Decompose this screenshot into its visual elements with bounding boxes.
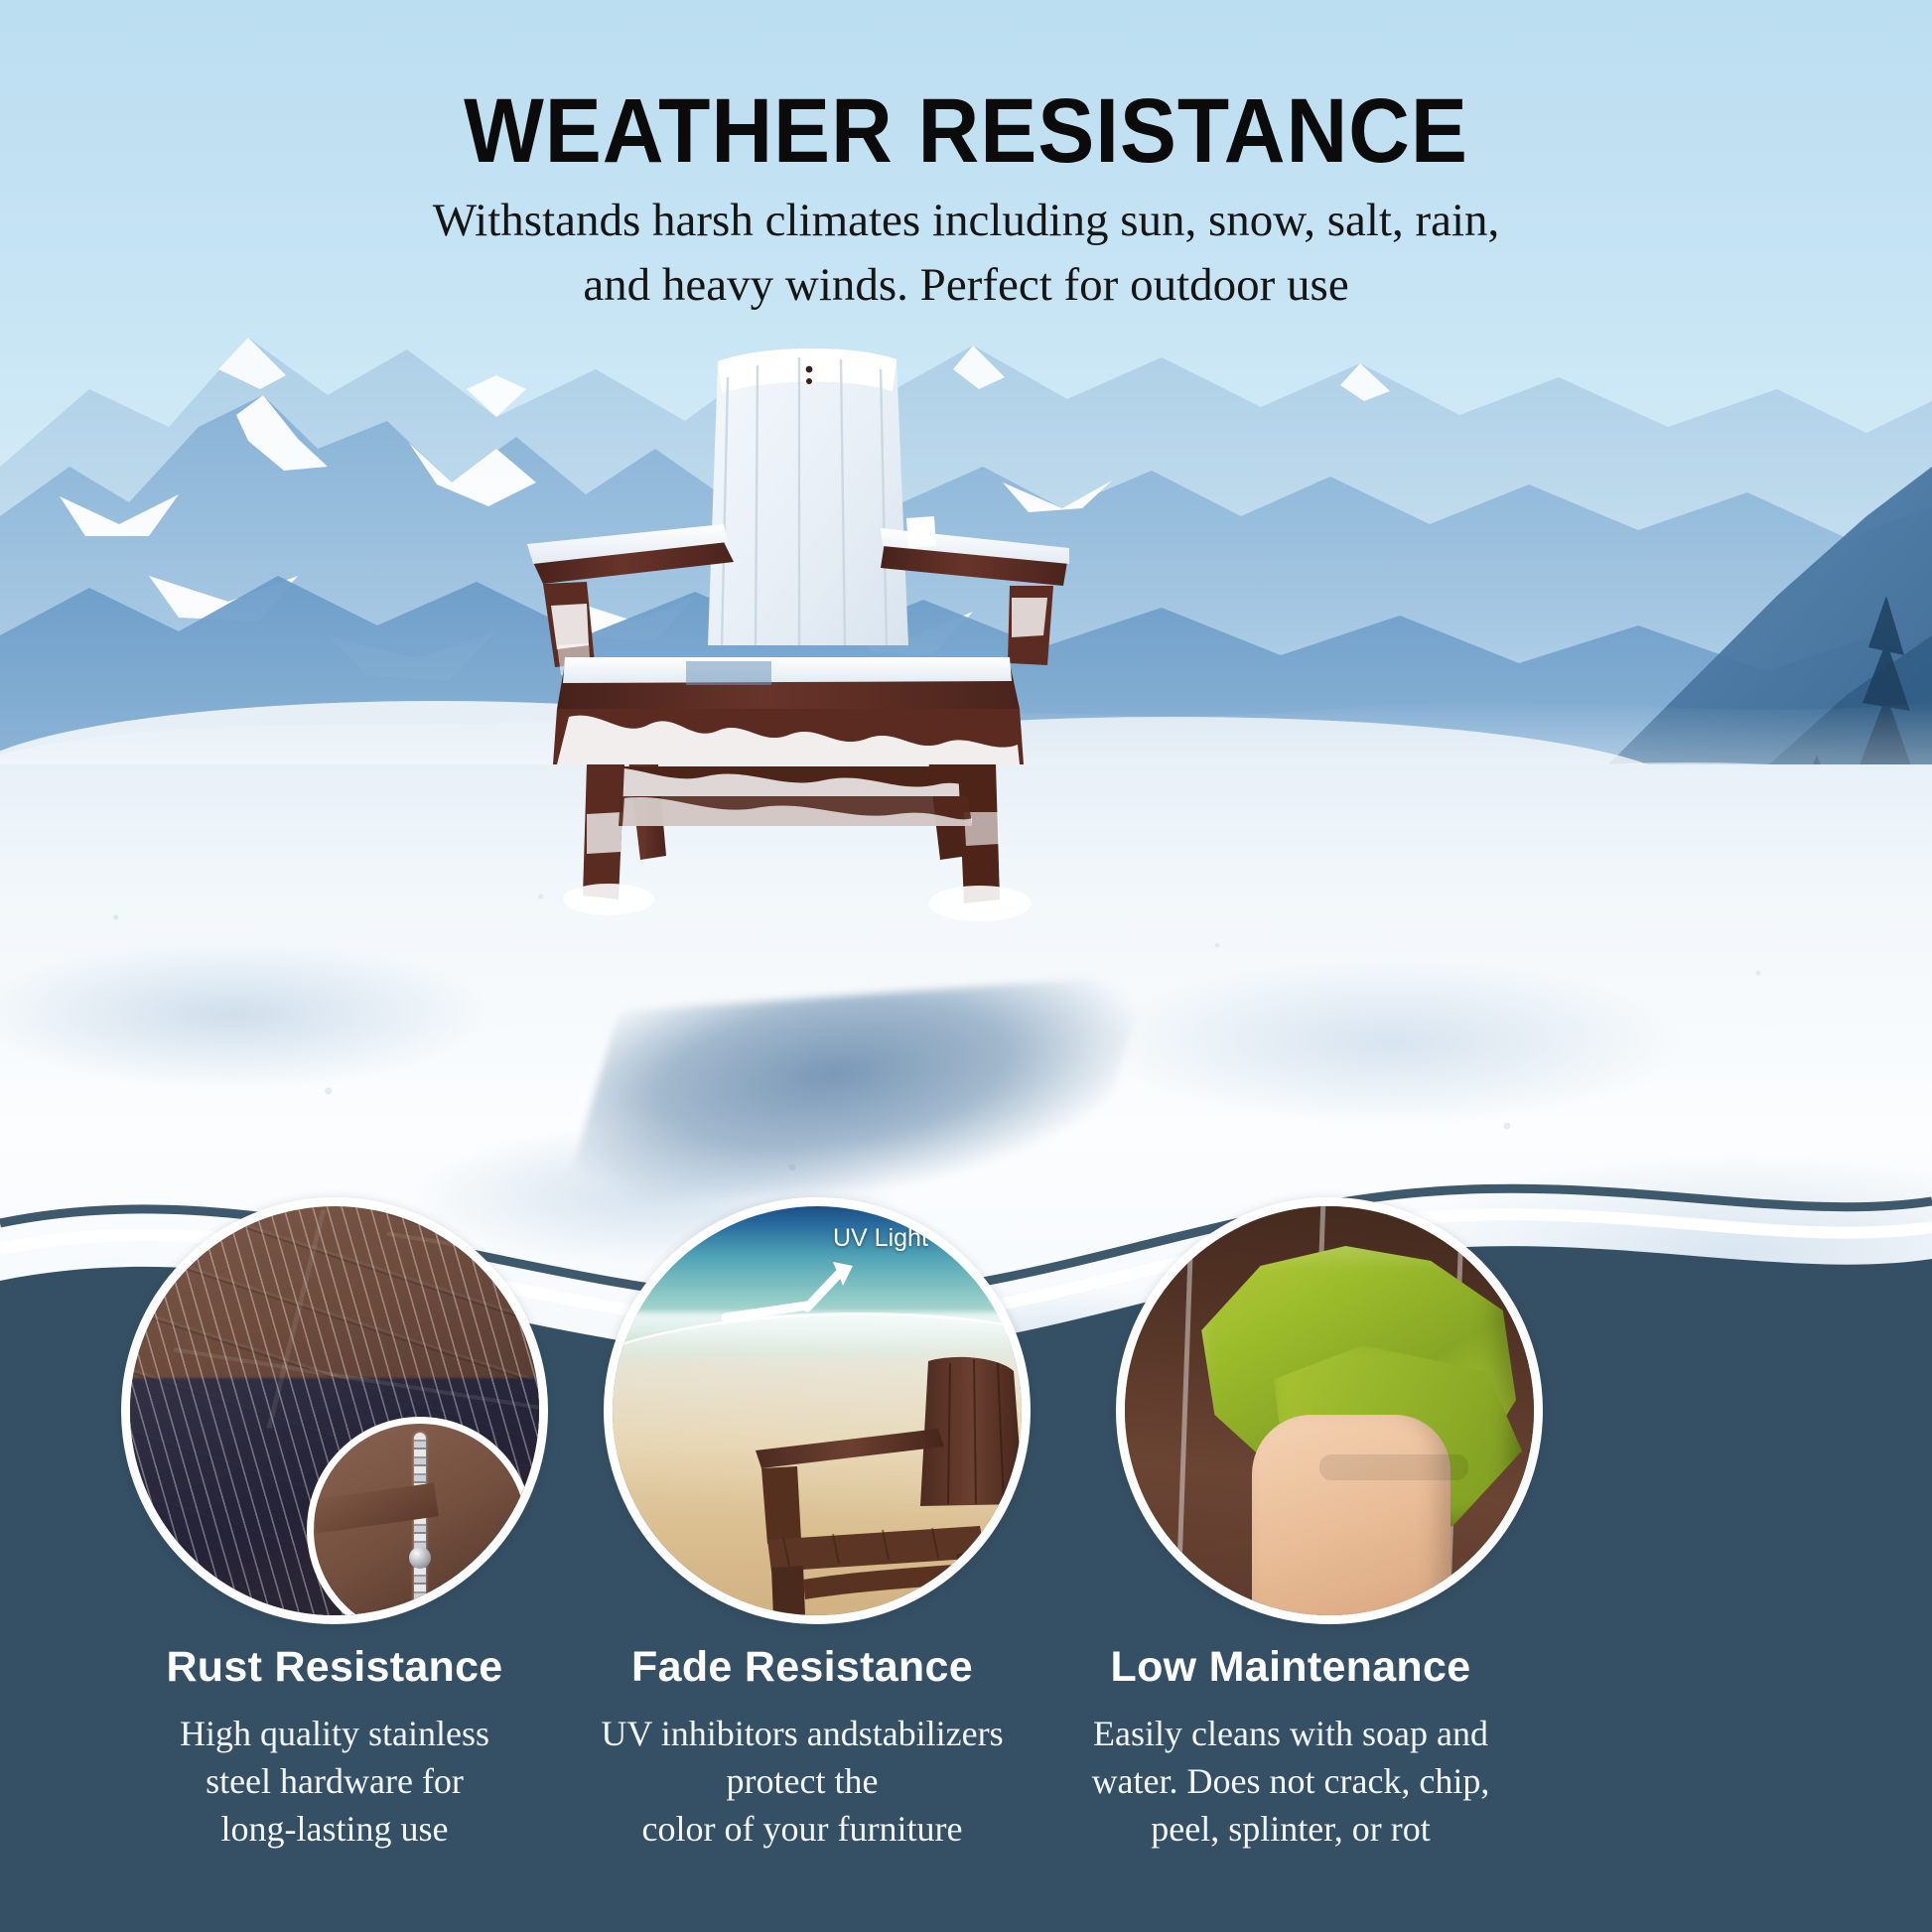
chain-hardware-ball [409, 1547, 431, 1569]
cleaning-photo [1125, 1206, 1534, 1615]
desc-line-1: Easily cleans with soap and [993, 1711, 1588, 1758]
beach-photo: UV Light [613, 1206, 1022, 1615]
snow-covered-adirondack-chair [491, 347, 1107, 923]
page-title: WEATHER RESISTANCE [68, 85, 1864, 177]
uv-light-arrow-icon [722, 1256, 871, 1345]
desc-line-3: peel, splinter, or rot [993, 1806, 1588, 1854]
subtitle-line-2: and heavy winds. Perfect for outdoor use [357, 253, 1575, 318]
feature-desc-low-maintenance: Easily cleans with soap and water. Does … [993, 1711, 1588, 1854]
hand [1252, 1415, 1450, 1624]
beach-adirondack-chair [744, 1355, 1031, 1623]
feature-image-rust-resistance[interactable] [121, 1197, 548, 1624]
feature-image-low-maintenance[interactable] [1116, 1197, 1543, 1624]
desc-line-2: water. Does not crack, chip, [993, 1758, 1588, 1806]
rust-photo [130, 1206, 539, 1615]
page-subtitle: Withstands harsh climates including sun,… [357, 189, 1575, 318]
stainless-chain-icon [414, 1433, 426, 1624]
infographic-canvas: WEATHER RESISTANCE Withstands harsh clim… [0, 0, 1932, 1932]
subtitle-line-1: Withstands harsh climates including sun,… [357, 189, 1575, 253]
feature-image-fade-resistance[interactable]: UV Light [604, 1197, 1031, 1624]
feature-title-low-maintenance: Low Maintenance [993, 1643, 1588, 1692]
uv-light-label: UV Light [833, 1224, 928, 1253]
